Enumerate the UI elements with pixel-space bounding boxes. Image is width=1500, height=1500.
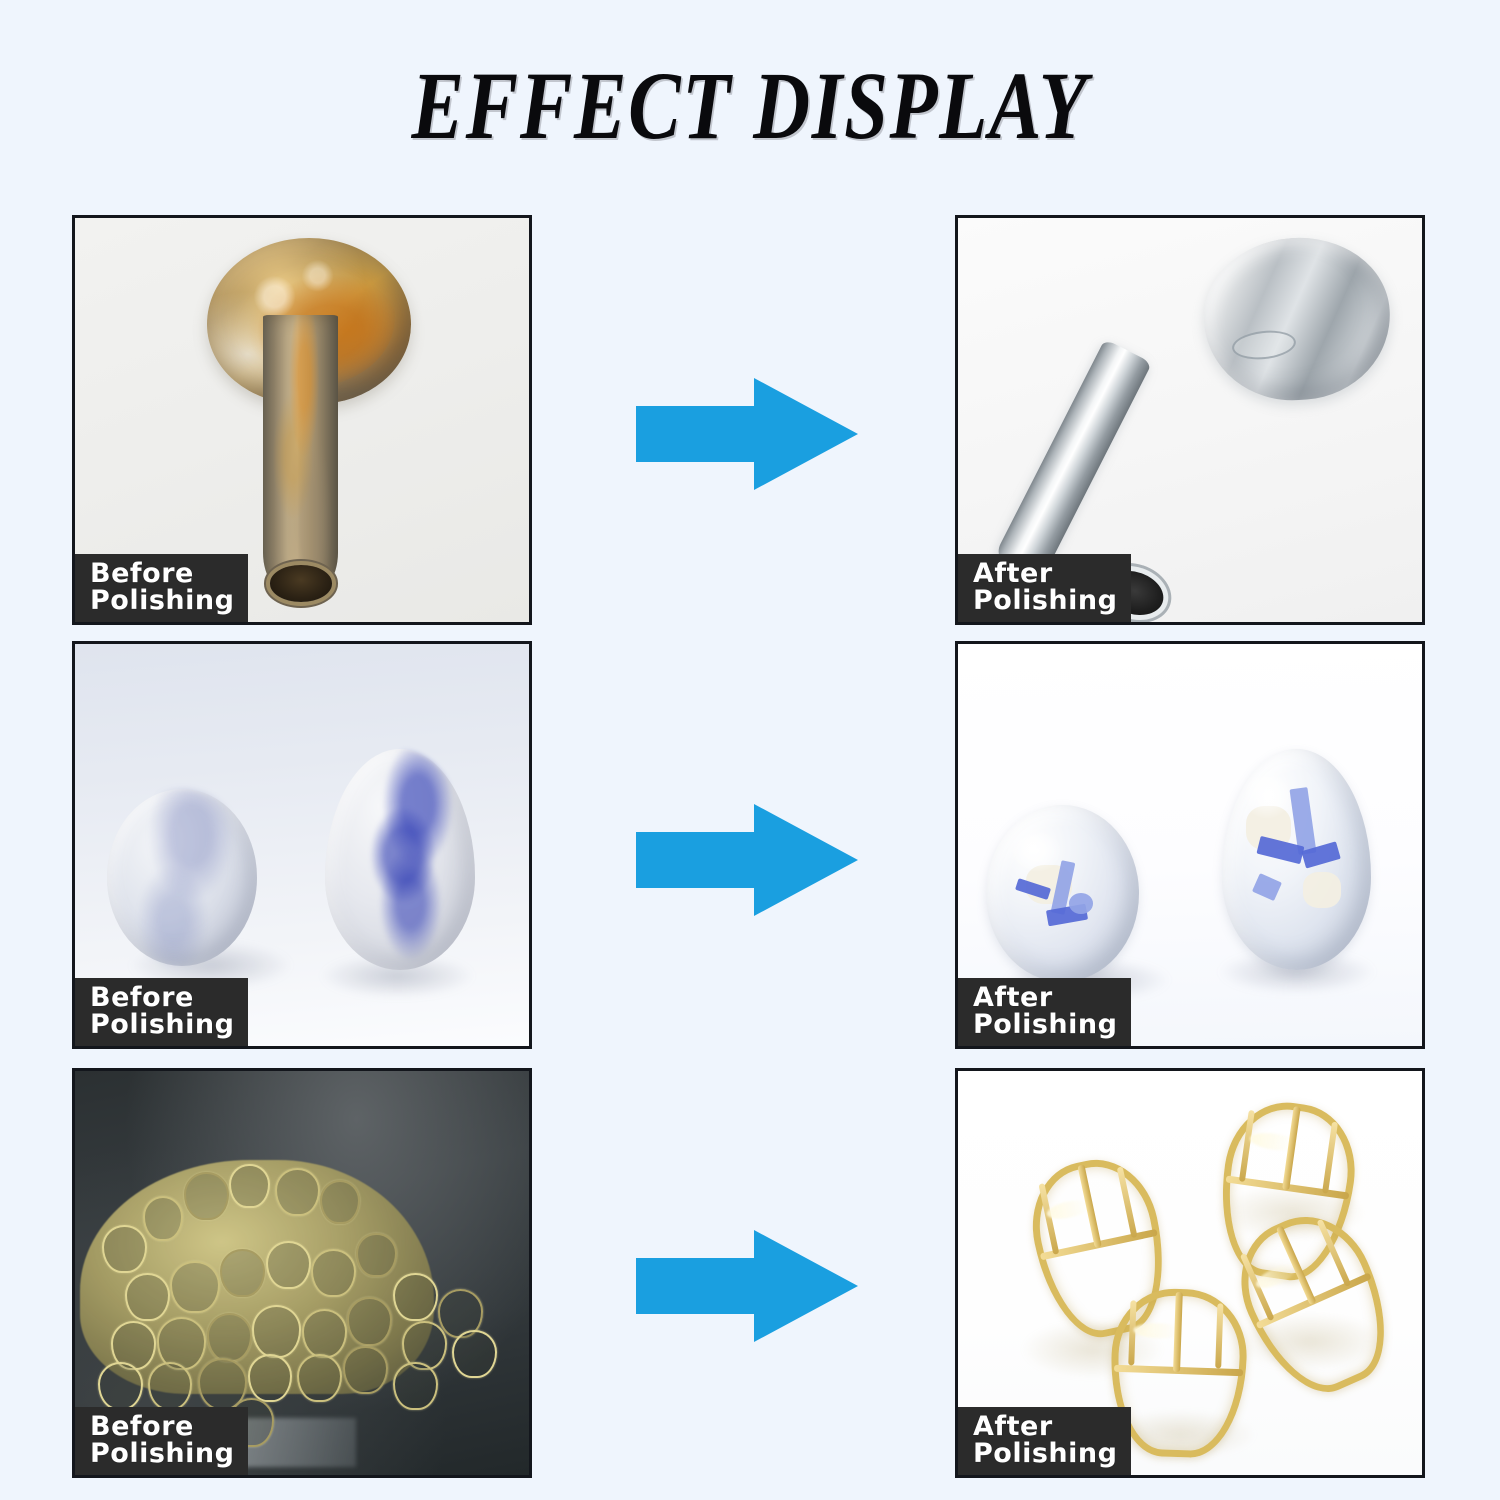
brass-ring-outlier	[452, 1330, 497, 1378]
caption-line-2: Polishing	[973, 1440, 1117, 1468]
brass-ring	[347, 1297, 392, 1345]
frosted-egg-left	[107, 789, 257, 966]
caption-line-2: Polishing	[90, 1011, 234, 1039]
caption-line-1: Before	[90, 1413, 234, 1441]
caption-badge-before: Before Polishing	[74, 978, 248, 1046]
caption-line-1: After	[973, 984, 1117, 1012]
effect-display-page: EFFECT DISPLAY Before Polishing After Po…	[0, 0, 1500, 1500]
brass-ring	[148, 1362, 193, 1410]
inclusion-blue-4	[1069, 893, 1093, 914]
brass-ring	[220, 1249, 265, 1297]
brass-ring	[207, 1313, 252, 1361]
chrome-head-shape	[1198, 232, 1394, 406]
brass-ring	[311, 1249, 356, 1297]
caption-badge-before: Before Polishing	[74, 1407, 248, 1475]
photo-before-ring-settings: Before Polishing	[72, 1068, 532, 1478]
rusty-shaft-shape	[263, 315, 338, 598]
gold-highlight	[1134, 1322, 1183, 1339]
photo-before-metal-fitting: Before Polishing	[72, 215, 532, 625]
brass-ring	[343, 1346, 388, 1394]
photo-after-metal-fitting: After Polishing	[955, 215, 1425, 625]
clear-egg-right	[1222, 749, 1370, 970]
gold-prong	[1215, 1304, 1223, 1369]
photo-after-ring-settings: After Polishing	[955, 1068, 1425, 1478]
brass-ring	[248, 1354, 293, 1402]
brass-ring	[266, 1241, 311, 1289]
caption-badge-after: After Polishing	[957, 1407, 1131, 1475]
brass-ring	[297, 1354, 342, 1402]
photo-before-glass-eggs: Before Polishing	[72, 641, 532, 1049]
gold-prong	[1117, 1167, 1138, 1238]
brass-ring	[229, 1164, 269, 1208]
caption-line-1: Before	[90, 560, 234, 588]
brass-ring	[98, 1362, 143, 1410]
brass-ring	[143, 1196, 183, 1240]
gold-highlight	[1045, 1197, 1092, 1222]
brass-ring	[125, 1273, 170, 1321]
right-arrow-icon-row-2	[636, 802, 860, 918]
brass-ring	[170, 1261, 219, 1313]
caption-line-1: Before	[90, 984, 234, 1012]
caption-line-1: After	[973, 560, 1117, 588]
right-arrow-icon-row-1	[636, 376, 860, 492]
rusty-bore-shape	[270, 565, 331, 601]
clear-egg-left	[986, 805, 1139, 982]
brass-ring	[302, 1309, 347, 1357]
gold-highlight	[1249, 1131, 1299, 1154]
caption-line-2: Polishing	[90, 587, 234, 615]
photo-after-glass-eggs: After Polishing	[955, 641, 1425, 1049]
brass-ring	[356, 1233, 396, 1277]
egg-highlight	[1010, 830, 1062, 872]
inclusion-blue-4	[1252, 873, 1282, 901]
egg-highlight	[1243, 771, 1291, 820]
brass-ring-outlier	[393, 1362, 438, 1410]
caption-badge-after: After Polishing	[957, 978, 1131, 1046]
right-arrow-icon-row-3	[636, 1228, 860, 1344]
brass-ring	[252, 1305, 301, 1357]
caption-line-2: Polishing	[90, 1440, 234, 1468]
chrome-shaft-shape	[991, 339, 1152, 586]
gold-prong	[1322, 1122, 1338, 1193]
page-title: EFFECT DISPLAY	[135, 58, 1365, 154]
gold-prong	[1240, 1111, 1256, 1182]
caption-line-2: Polishing	[973, 1011, 1117, 1039]
inclusion-cream-2	[1303, 872, 1342, 907]
caption-badge-after: After Polishing	[957, 554, 1131, 622]
caption-badge-before: Before Polishing	[74, 554, 248, 622]
frosted-egg-right	[325, 749, 475, 970]
brass-ring	[275, 1168, 320, 1216]
caption-line-2: Polishing	[973, 587, 1117, 615]
caption-line-1: After	[973, 1413, 1117, 1441]
brass-ring	[184, 1172, 229, 1220]
brass-ring-outlier	[393, 1273, 438, 1321]
brass-ring	[102, 1225, 147, 1273]
